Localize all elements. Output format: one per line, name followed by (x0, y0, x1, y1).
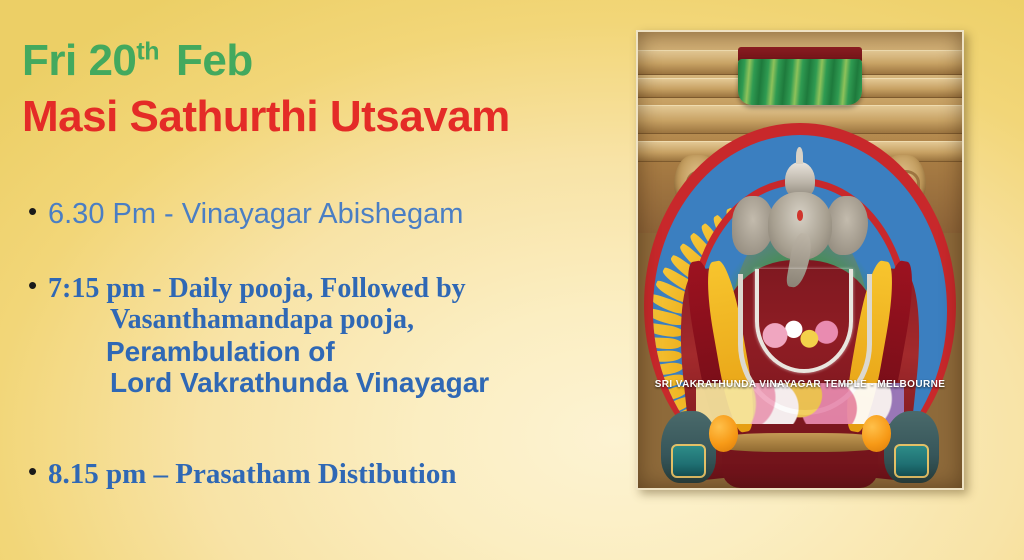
schedule-entry-2-line-1: 7:15 pm - Daily pooja, Followed by (48, 273, 466, 304)
mooshika-statue-left-icon (661, 411, 716, 484)
date-prefix: Fri 20 (22, 36, 136, 85)
schedule-entry-2-line-2: Vasanthamandapa pooja, (48, 304, 489, 335)
orange-fruit-left-icon (709, 415, 738, 451)
schedule-entry-2-line-3: Perambulation of (48, 336, 489, 367)
green-valance (738, 59, 861, 105)
schedule-entry-2-line-4: Lord Vakrathunda Vinayagar (48, 367, 489, 398)
flame-petal-icon (653, 350, 683, 363)
schedule-entry-3: 8.15 pm – Prasatham Distibution (48, 458, 456, 490)
bullet-icon: • (22, 458, 48, 485)
schedule-entry-1: 6.30 Pm - Vinayagar Abishegam (48, 198, 463, 230)
photo-watermark: SRI VAKRATHUNDA VINAYAGAR TEMPLE - MELBO… (638, 379, 962, 390)
tilak-icon (797, 210, 803, 221)
date-month: Feb (176, 36, 253, 85)
list-item: • 8.15 pm – Prasatham Distibution (22, 458, 456, 490)
flower-cluster (761, 315, 839, 356)
schedule-entry-2: 7:15 pm - Daily pooja, Followed by Vasan… (48, 272, 489, 398)
event-slide: Fri 20thFeb Masi Sathurthi Utsavam • 6.3… (0, 0, 1024, 560)
page-title-event: Masi Sathurthi Utsavam (22, 95, 510, 139)
list-item: • 7:15 pm - Daily pooja, Followed by Vas… (22, 272, 489, 398)
deity-photo: SRI VAKRATHUNDA VINAYAGAR TEMPLE - MELBO… (638, 32, 962, 488)
date-ordinal-suffix: th (136, 37, 159, 65)
bullet-icon: • (22, 272, 48, 299)
flame-petal-icon (653, 337, 683, 350)
orange-fruit-right-icon (862, 415, 891, 451)
mooshika-statue-right-icon (884, 411, 939, 484)
deity-photo-frame: SRI VAKRATHUNDA VINAYAGAR TEMPLE - MELBO… (636, 30, 964, 490)
page-title-date: Fri 20thFeb (22, 39, 253, 83)
text-column: Fri 20thFeb Masi Sathurthi Utsavam • 6.3… (0, 0, 630, 560)
list-item: • 6.30 Pm - Vinayagar Abishegam (22, 198, 463, 230)
bullet-icon: • (22, 198, 48, 225)
